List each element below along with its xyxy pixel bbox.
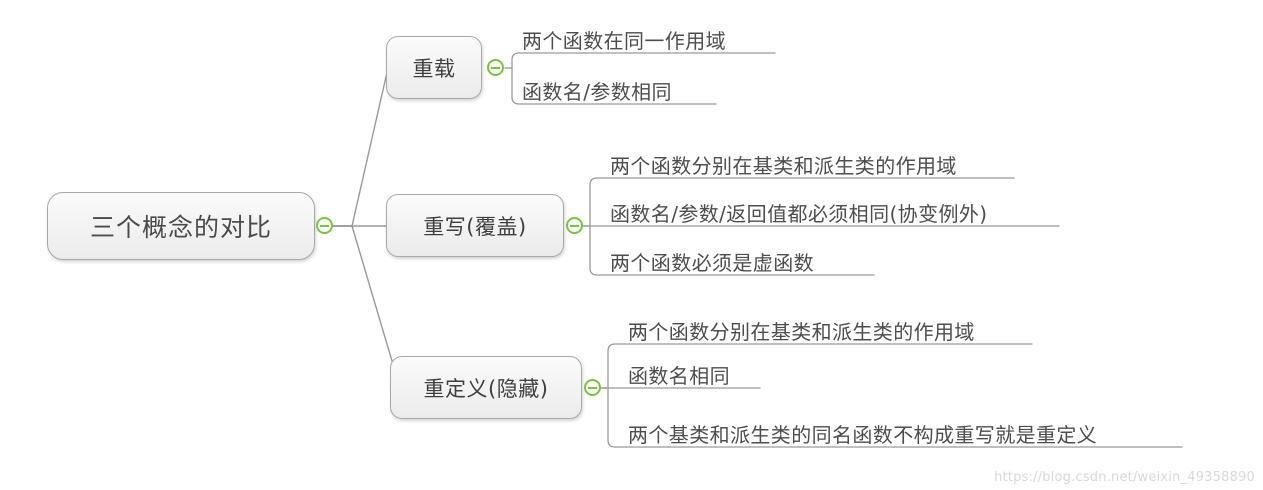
root-collapse-toggle[interactable] <box>316 217 333 234</box>
branch-node-overload[interactable]: 重载 <box>386 36 482 99</box>
branch-node-label: 重定义(隐藏) <box>424 373 549 403</box>
branch-collapse-toggle-redefine[interactable] <box>584 379 601 396</box>
leaf-label[interactable]: 两个函数必须是虚函数 <box>610 252 814 274</box>
root-node[interactable]: 三个概念的对比 <box>47 192 315 260</box>
leaf-label[interactable]: 函数名/参数/返回值都必须相同(协变例外) <box>610 203 987 225</box>
leaf-label[interactable]: 两个函数分别在基类和派生类的作用域 <box>610 155 957 177</box>
leaf-label[interactable]: 两个基类和派生类的同名函数不构成重写就是重定义 <box>628 424 1097 446</box>
branch-collapse-toggle-override[interactable] <box>566 217 583 234</box>
leaf-label[interactable]: 两个函数分别在基类和派生类的作用域 <box>628 321 975 343</box>
branch-node-label: 重写(覆盖) <box>423 211 526 241</box>
watermark: https://blog.csdn.net/weixin_49358890 <box>994 470 1255 485</box>
leaf-label[interactable]: 函数名相同 <box>628 365 730 387</box>
branch-collapse-toggle-overload[interactable] <box>487 59 504 76</box>
branch-node-override[interactable]: 重写(覆盖) <box>386 194 564 257</box>
mindmap-canvas: 三个概念的对比 重载 两个函数在同一作用域 函数名/参数相同 重写(覆盖) 两个… <box>0 0 1263 490</box>
root-node-label: 三个概念的对比 <box>90 208 272 244</box>
leaf-label[interactable]: 函数名/参数相同 <box>522 81 672 103</box>
branch-node-label: 重载 <box>413 53 456 83</box>
leaf-label[interactable]: 两个函数在同一作用域 <box>522 30 726 52</box>
branch-node-redefine[interactable]: 重定义(隐藏) <box>390 356 582 419</box>
